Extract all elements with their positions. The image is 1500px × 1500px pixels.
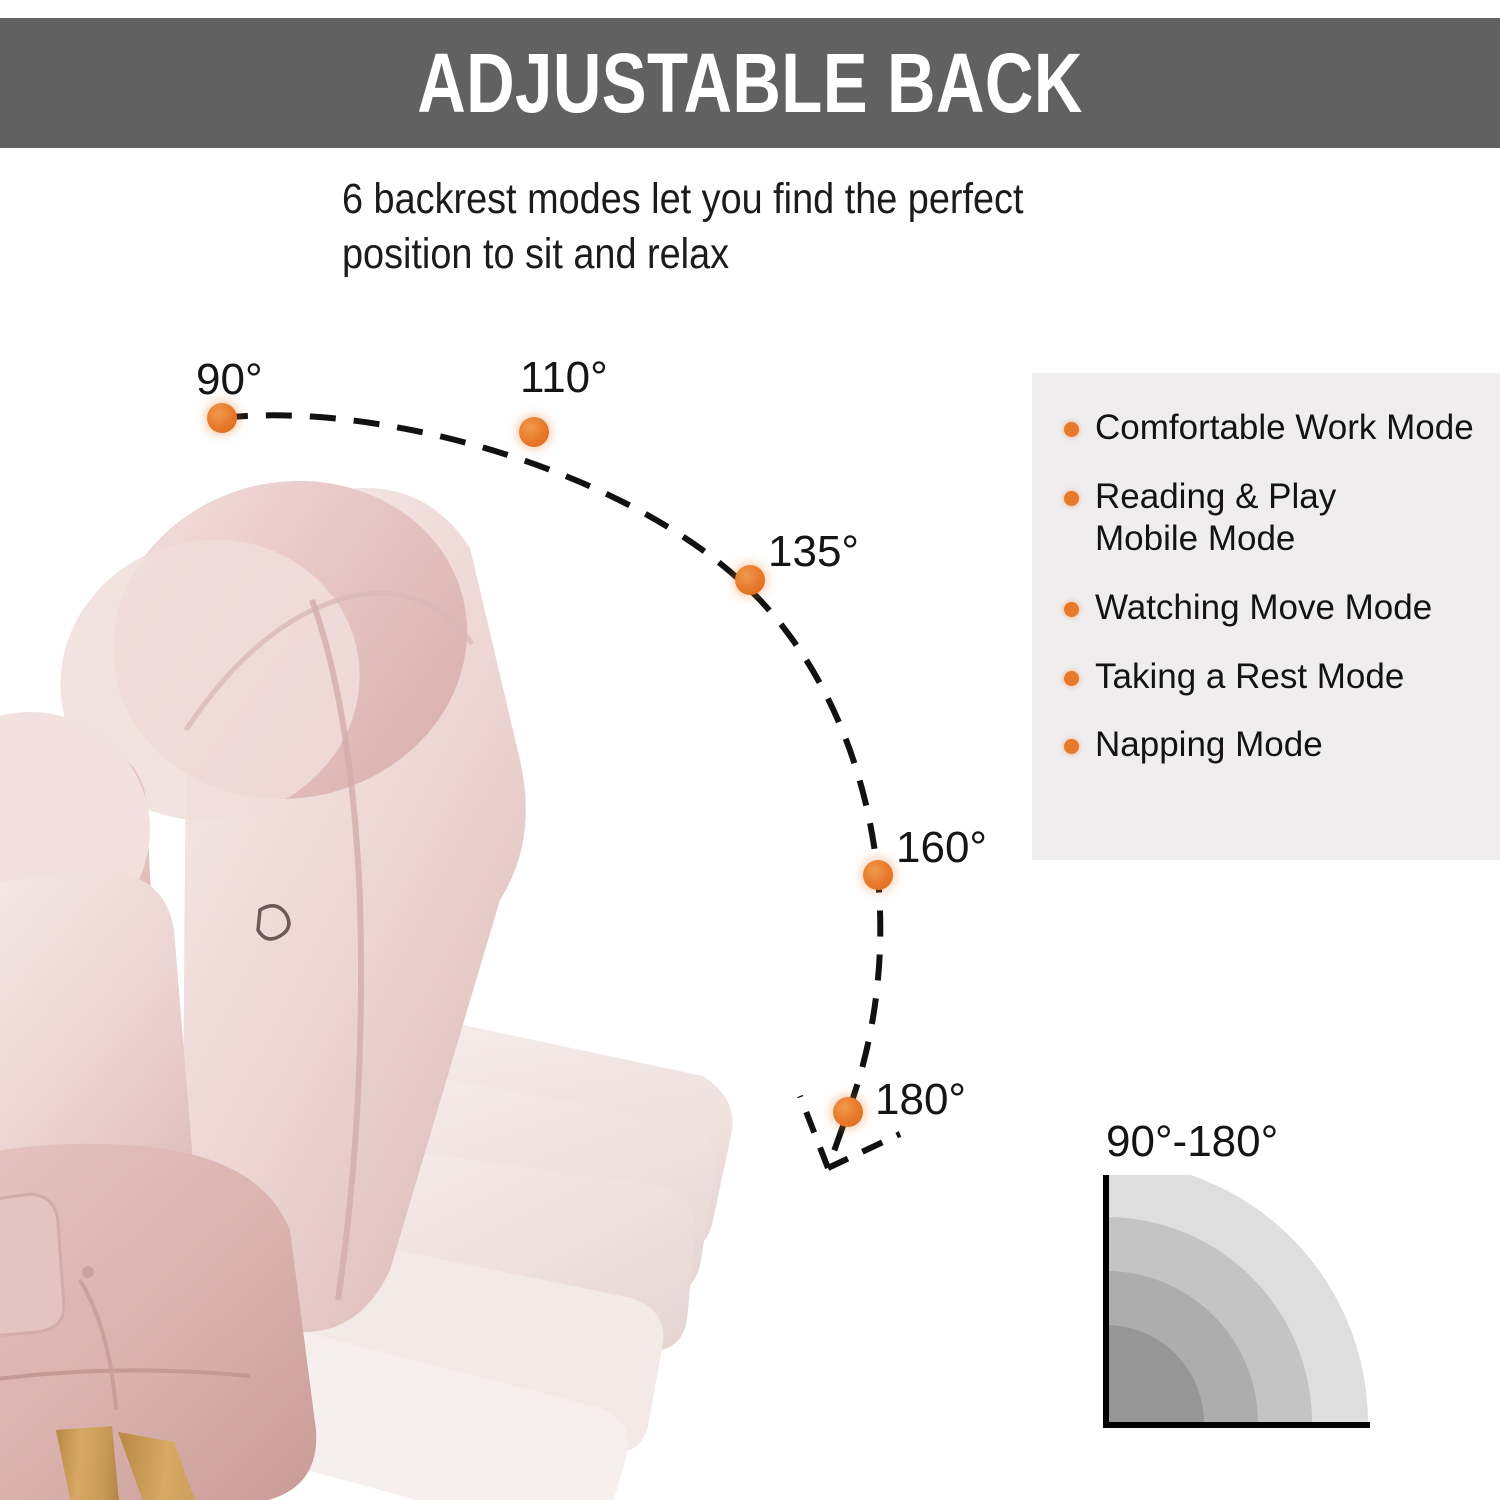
bullet-icon (1064, 739, 1079, 754)
header-band: ADJUSTABLE BACK (0, 18, 1500, 148)
angle-dot-90 (207, 403, 237, 433)
angle-label-135: 135° (768, 530, 859, 574)
angle-range-label: 90°-180° (1106, 1120, 1278, 1164)
bullet-icon (1064, 422, 1079, 437)
angle-dot-180 (833, 1097, 863, 1127)
mode-label: Napping Mode (1095, 724, 1323, 767)
mode-list-panel: Comfortable Work Mode Reading & Play Mob… (1032, 373, 1500, 860)
infographic-page: 90° 110° 135° 160° 180° ADJUSTABLE BACK … (0, 0, 1500, 1500)
mode-label: Watching Move Mode (1095, 587, 1432, 630)
quarter-circle-diagram (1080, 1175, 1400, 1450)
angle-dot-160 (863, 860, 893, 890)
angle-dot-110 (519, 417, 549, 447)
angle-range-legend: 90°-180° (1080, 1120, 1410, 1450)
angle-dot-135 (735, 565, 765, 595)
angle-label-90: 90° (196, 358, 263, 402)
bullet-icon (1064, 602, 1079, 617)
list-item: Taking a Rest Mode (1064, 656, 1484, 699)
page-title: ADJUSTABLE BACK (417, 41, 1083, 125)
list-item: Comfortable Work Mode (1064, 407, 1484, 450)
bullet-icon (1064, 671, 1079, 686)
bullet-icon (1064, 491, 1079, 506)
list-item: Reading & Play Mobile Mode (1064, 476, 1484, 561)
angle-label-110: 110° (520, 356, 608, 400)
angle-label-160: 160° (896, 826, 987, 870)
chair-illustration (0, 430, 800, 1500)
mode-label: Comfortable Work Mode (1095, 407, 1474, 450)
mode-label: Reading & Play Mobile Mode (1095, 476, 1336, 561)
subtitle-text: 6 backrest modes let you find the perfec… (342, 172, 1099, 281)
list-item: Watching Move Mode (1064, 587, 1484, 630)
angle-label-180: 180° (875, 1078, 966, 1122)
mode-list: Comfortable Work Mode Reading & Play Mob… (1064, 407, 1484, 767)
mode-label: Taking a Rest Mode (1095, 656, 1404, 699)
list-item: Napping Mode (1064, 724, 1484, 767)
